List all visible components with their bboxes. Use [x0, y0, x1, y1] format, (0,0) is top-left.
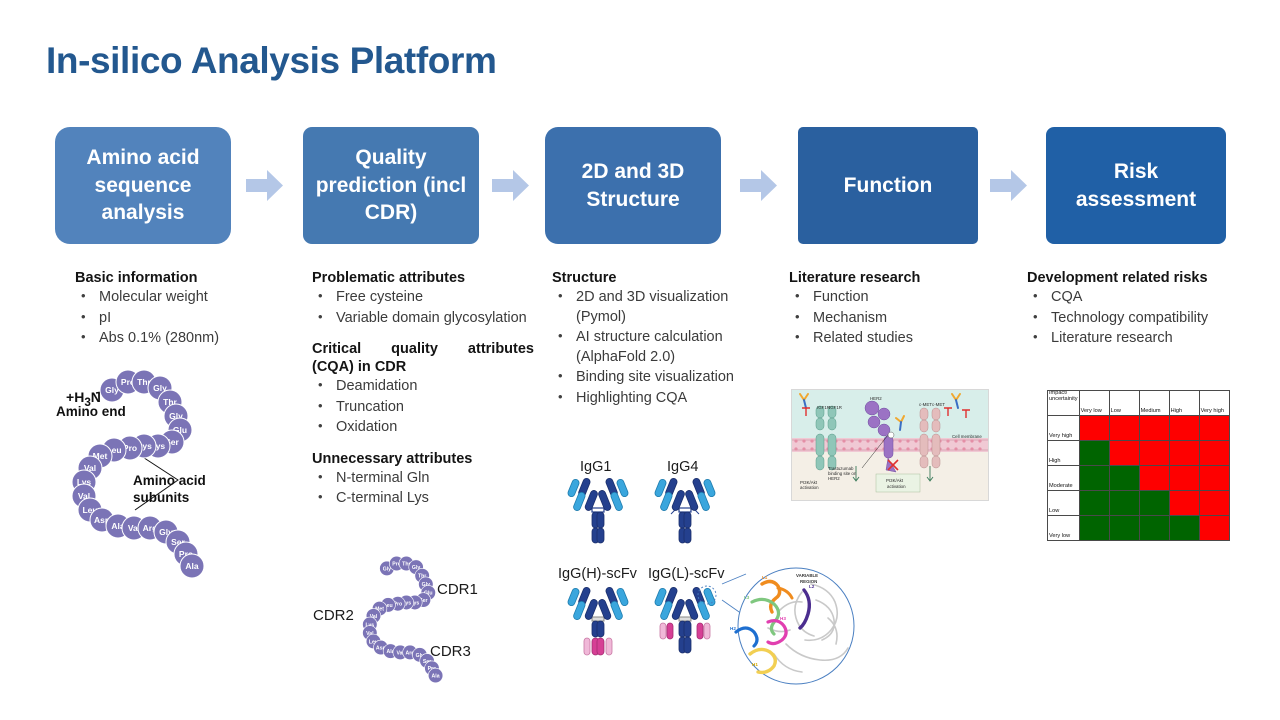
- list-item: Free cysteine: [312, 288, 534, 308]
- spacer: [312, 329, 534, 341]
- risk-cell-red: [1169, 441, 1199, 466]
- list-item: Function: [789, 288, 999, 308]
- svg-text:L3: L3: [744, 595, 750, 600]
- bullet-list: N-terminal Gln C-terminal Lys: [312, 469, 534, 509]
- bullet-list: CQA Technology compatibility Literature …: [1027, 288, 1257, 349]
- bullet-list: 2D and 3D visualization (Pymol) AI struc…: [552, 288, 782, 408]
- column-quality-prediction: Problematic attributes Free cysteine Var…: [312, 270, 534, 510]
- risk-cell-green: [1109, 491, 1139, 516]
- risk-cell-red: [1139, 441, 1169, 466]
- bullet-list: Deamidation Truncation Oxidation: [312, 377, 534, 438]
- list-item: Oxidation: [312, 418, 534, 438]
- process-step-1[interactable]: Amino acid sequence analysis: [55, 127, 231, 244]
- svg-text:c-MET: c-MET: [932, 402, 945, 407]
- risk-cell-red: [1139, 466, 1169, 491]
- slide-canvas: In-silico Analysis Platform Amino acid s…: [0, 0, 1280, 720]
- antibody-figure-igg4: [649, 474, 721, 544]
- section-header: Problematic attributes: [312, 270, 534, 286]
- bullet-list: Function Mechanism Related studies: [789, 288, 999, 349]
- risk-cell-red: [1199, 491, 1229, 516]
- row-header: High: [1048, 441, 1080, 466]
- antibody-label-igg-h-scfv: IgG(H)-scFv: [558, 566, 637, 582]
- svg-text:c-MET: c-MET: [919, 402, 932, 407]
- antibody-figure-igg-l-scfv: [649, 583, 721, 658]
- column-header: Medium: [1139, 391, 1169, 416]
- table-row: Very high: [1048, 416, 1230, 441]
- svg-text:H2: H2: [730, 626, 736, 631]
- antibody-figure-igg-h-scfv: [562, 583, 634, 658]
- antibody-label-igg-l-scfv: IgG(L)-scFv: [648, 566, 725, 582]
- table-row: Very low: [1048, 516, 1230, 541]
- section-header: Unnecessary attributes: [312, 451, 534, 467]
- her2-pathway-figure: IGF1R IGF1R HER2 c-MET c-MET Cell membra…: [791, 389, 989, 501]
- list-item: Mechanism: [789, 309, 999, 329]
- list-item: AI structure calculation (AlphaFold 2.0): [552, 328, 782, 367]
- risk-cell-green: [1139, 516, 1169, 541]
- cdr2-label: CDR2: [313, 607, 354, 624]
- svg-text:IGF1R: IGF1R: [817, 405, 830, 410]
- amino-acid-label: Gly: [383, 566, 391, 572]
- risk-cell-green: [1079, 516, 1109, 541]
- risk-cell-red: [1169, 416, 1199, 441]
- process-step-2[interactable]: Quality prediction (incl CDR): [303, 127, 479, 244]
- list-item: Technology compatibility: [1027, 309, 1257, 329]
- svg-text:H3: H3: [780, 616, 786, 621]
- svg-text:VARIABLE: VARIABLE: [796, 573, 818, 578]
- amino-acid-subunits-label: Amino acidsubunits: [133, 473, 206, 507]
- svg-text:Cell membrane: Cell membrane: [952, 434, 982, 439]
- risk-cell-green: [1139, 491, 1169, 516]
- table-row: Low: [1048, 491, 1230, 516]
- cdr3-label: CDR3: [430, 643, 471, 660]
- section-header-line2: (CQA) in CDR: [312, 359, 534, 375]
- svg-text:L1: L1: [762, 575, 768, 580]
- row-header: Low: [1048, 491, 1080, 516]
- list-item: pI: [75, 309, 310, 329]
- process-step-3[interactable]: 2D and 3D Structure: [545, 127, 721, 244]
- section-header: Structure: [552, 270, 782, 286]
- svg-text:REGION: REGION: [800, 579, 817, 584]
- table-row: High: [1048, 441, 1230, 466]
- row-header: Very high: [1048, 416, 1080, 441]
- risk-cell-green: [1079, 466, 1109, 491]
- matrix-corner-label: Impact/ uncertainity: [1048, 391, 1080, 416]
- svg-text:activation: activation: [887, 484, 906, 489]
- bullet-list: Molecular weight pI Abs 0.1% (280nm): [75, 288, 310, 349]
- list-item: N-terminal Gln: [312, 469, 534, 489]
- amino-end-label: Amino end: [56, 404, 126, 419]
- svg-text:PI3K/Akt: PI3K/Akt: [886, 478, 904, 483]
- column-header: Very high: [1199, 391, 1229, 416]
- column-risk-assessment: Development related risks CQA Technology…: [1027, 270, 1257, 350]
- column-structure: Structure 2D and 3D visualization (Pymol…: [552, 270, 782, 409]
- risk-cell-green: [1109, 516, 1139, 541]
- right-arrow-icon: [740, 169, 778, 202]
- section-header: Basic information: [75, 270, 310, 286]
- list-item: 2D and 3D visualization (Pymol): [552, 288, 782, 327]
- svg-text:L2: L2: [809, 584, 815, 589]
- list-item: Molecular weight: [75, 288, 310, 308]
- risk-cell-red: [1199, 466, 1229, 491]
- risk-cell-green: [1169, 516, 1199, 541]
- page-title: In-silico Analysis Platform: [46, 40, 496, 82]
- bullet-list: Free cysteine Variable domain glycosylat…: [312, 288, 534, 328]
- amino-acid-label: Ala: [185, 561, 199, 571]
- svg-text:H1: H1: [752, 662, 758, 667]
- list-item: Literature research: [1027, 329, 1257, 349]
- row-header: Moderate: [1048, 466, 1080, 491]
- process-step-4[interactable]: Function: [798, 127, 978, 244]
- list-item: Related studies: [789, 329, 999, 349]
- amino-acid-label: Ala: [432, 673, 440, 679]
- section-header: Critical quality attributes: [312, 341, 534, 357]
- risk-matrix-table: Impact/ uncertainity Very low Low Medium…: [1047, 390, 1230, 541]
- risk-cell-green: [1079, 441, 1109, 466]
- risk-cell-red: [1169, 491, 1199, 516]
- column-header: High: [1169, 391, 1199, 416]
- table-row: Moderate: [1048, 466, 1230, 491]
- row-header: Very low: [1048, 516, 1080, 541]
- antibody-label-igg1: IgG1: [580, 459, 611, 475]
- spacer: [312, 439, 534, 451]
- section-header: Literature research: [789, 270, 999, 286]
- column-header: Low: [1109, 391, 1139, 416]
- svg-text:HER2: HER2: [828, 476, 840, 481]
- list-item: Deamidation: [312, 377, 534, 397]
- risk-cell-red: [1169, 466, 1199, 491]
- right-arrow-icon: [492, 169, 530, 202]
- risk-cell-red: [1139, 416, 1169, 441]
- list-item: Truncation: [312, 398, 534, 418]
- risk-cell-red: [1199, 516, 1229, 541]
- column-function: Literature research Function Mechanism R…: [789, 270, 999, 350]
- svg-text:HER2: HER2: [870, 396, 882, 401]
- risk-cell-red: [1109, 441, 1139, 466]
- table-header-row: Impact/ uncertainity Very low Low Medium…: [1048, 391, 1230, 416]
- risk-cell-red: [1109, 416, 1139, 441]
- risk-cell-red: [1199, 416, 1229, 441]
- column-amino-acid-sequence-analysis: Basic information Molecular weight pI Ab…: [75, 270, 310, 350]
- list-item: Variable domain glycosylation: [312, 309, 534, 329]
- list-item: Highlighting CQA: [552, 389, 782, 409]
- list-item: Abs 0.1% (280nm): [75, 329, 310, 349]
- risk-cell-red: [1079, 416, 1109, 441]
- cdr1-label: CDR1: [437, 581, 478, 598]
- list-item: Binding site visualization: [552, 368, 782, 388]
- antibody-label-igg4: IgG4: [667, 459, 698, 475]
- column-header: Very low: [1079, 391, 1109, 416]
- list-item: C-terminal Lys: [312, 489, 534, 509]
- variable-region-inset: L1 L2 L3 H3 H2 H1 VARIABLE REGION: [716, 566, 873, 686]
- section-header: Development related risks: [1027, 270, 1257, 286]
- svg-text:activation: activation: [800, 485, 819, 490]
- list-item: CQA: [1027, 288, 1257, 308]
- process-step-5[interactable]: Risk assessment: [1046, 127, 1226, 244]
- right-arrow-icon: [246, 169, 284, 202]
- right-arrow-icon: [990, 169, 1028, 202]
- cdr-loop-diagram: GlyProThrGlyThrGlyGluSerLysCysProLeuMetV…: [330, 555, 490, 695]
- antibody-figure-igg1: [562, 474, 634, 544]
- risk-cell-green: [1079, 491, 1109, 516]
- svg-text:IGF1R: IGF1R: [829, 405, 842, 410]
- risk-cell-red: [1199, 441, 1229, 466]
- risk-cell-green: [1109, 466, 1139, 491]
